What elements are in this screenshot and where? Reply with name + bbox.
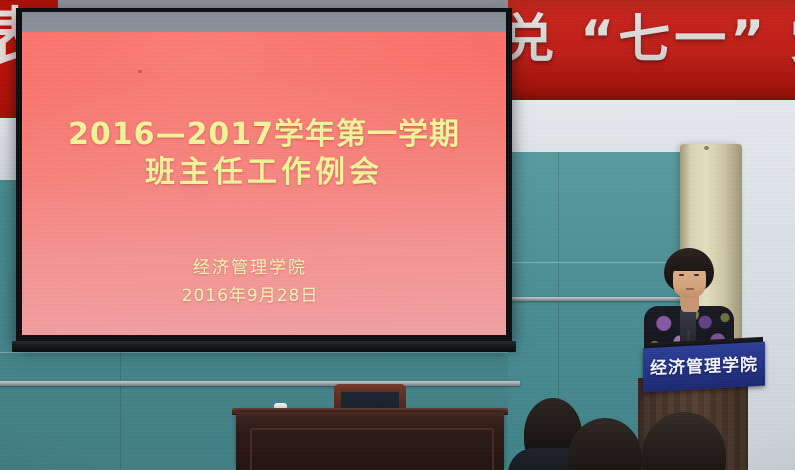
podium-sign: 经济管理学院 (643, 342, 765, 393)
wall-rail (0, 381, 520, 386)
stage-table (236, 412, 504, 470)
red-banner-right: 兑 “七一” 党 表 (508, 0, 795, 100)
slide-title-line2: 班主任工作例会 (22, 154, 506, 192)
lecture-hall-photo: 表 兑 “七一” 党 表 2016—2017学年第一学期 班主任工作例会 经济管… (0, 0, 795, 470)
screen-top-band (22, 12, 506, 33)
column-fixture-icon (704, 146, 709, 150)
projection-screen: 2016—2017学年第一学期 班主任工作例会 经济管理学院 2016年9月28… (16, 8, 512, 343)
slide-subtitle-org: 经济管理学院 (193, 258, 307, 278)
banner-shading (508, 0, 795, 100)
screen-speck (138, 70, 142, 73)
table-front-panel (250, 428, 494, 470)
presenter-eye-left (679, 274, 684, 276)
presenter-fringe (669, 256, 710, 271)
slide-subtitle: 经济管理学院 2016年9月28日 (22, 254, 506, 310)
wall-seam (0, 352, 508, 353)
chair-top-rail (334, 384, 406, 392)
slide-title: 2016—2017学年第一学期 班主任工作例会 (22, 116, 506, 193)
presenter-eye-right (694, 274, 699, 276)
slide-title-line1: 2016—2017学年第一学期 (68, 117, 460, 152)
podium-sign-text: 经济管理学院 (650, 350, 758, 379)
presenter-mouth (686, 288, 694, 290)
slide-surface: 2016—2017学年第一学期 班主任工作例会 经济管理学院 2016年9月28… (22, 32, 506, 335)
slide-subtitle-date: 2016年9月28日 (22, 282, 478, 310)
wall-seam-vertical (120, 352, 121, 470)
